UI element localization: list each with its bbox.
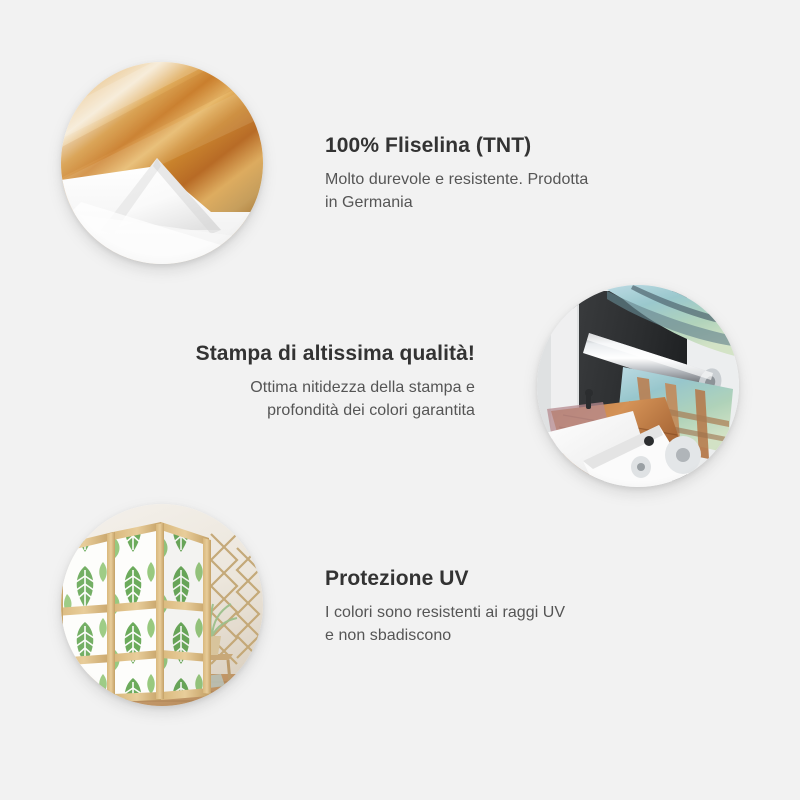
feature-heading: 100% Fliselina (TNT)	[325, 133, 685, 158]
feature-body: I colori sono resistenti ai raggi UV e n…	[325, 601, 685, 647]
feature-heading: Protezione UV	[325, 566, 685, 591]
circle-frame	[537, 285, 739, 487]
feature-body-line: I colori sono resistenti ai raggi UV	[325, 601, 685, 624]
feature-text-fliselina: 100% Fliselina (TNT) Molto durevole e re…	[325, 133, 685, 215]
feature-body: Molto durevole e resistente. Prodotta in…	[325, 168, 685, 214]
feature-body-line: Molto durevole e resistente. Prodotta	[325, 168, 685, 191]
wallpaper-roll-peeled-corner-image	[61, 62, 263, 264]
circle-frame	[61, 62, 263, 264]
printing-press-roller-image	[537, 285, 739, 487]
feature-text-stampa: Stampa di altissima qualità! Ottima niti…	[115, 341, 475, 423]
room-divider-illustration	[61, 504, 263, 706]
feature-body-line: Ottima nitidezza della stampa e	[115, 376, 475, 399]
infographic-stage: 100% Fliselina (TNT) Molto durevole e re…	[0, 0, 800, 800]
feature-text-protezione-uv: Protezione UV I colori sono resistenti a…	[325, 566, 685, 648]
feature-heading: Stampa di altissima qualità!	[115, 341, 475, 366]
feature-body-line: e non sbadiscono	[325, 624, 685, 647]
room-divider-tropical-leaves-image	[61, 504, 263, 706]
wallpaper-roll-illustration	[61, 62, 263, 264]
printing-press-illustration	[537, 285, 739, 487]
feature-body-line: profondità dei colori garantita	[115, 399, 475, 422]
feature-body: Ottima nitidezza della stampa e profondi…	[115, 376, 475, 422]
feature-body-line: in Germania	[325, 191, 685, 214]
circle-frame	[61, 504, 263, 706]
